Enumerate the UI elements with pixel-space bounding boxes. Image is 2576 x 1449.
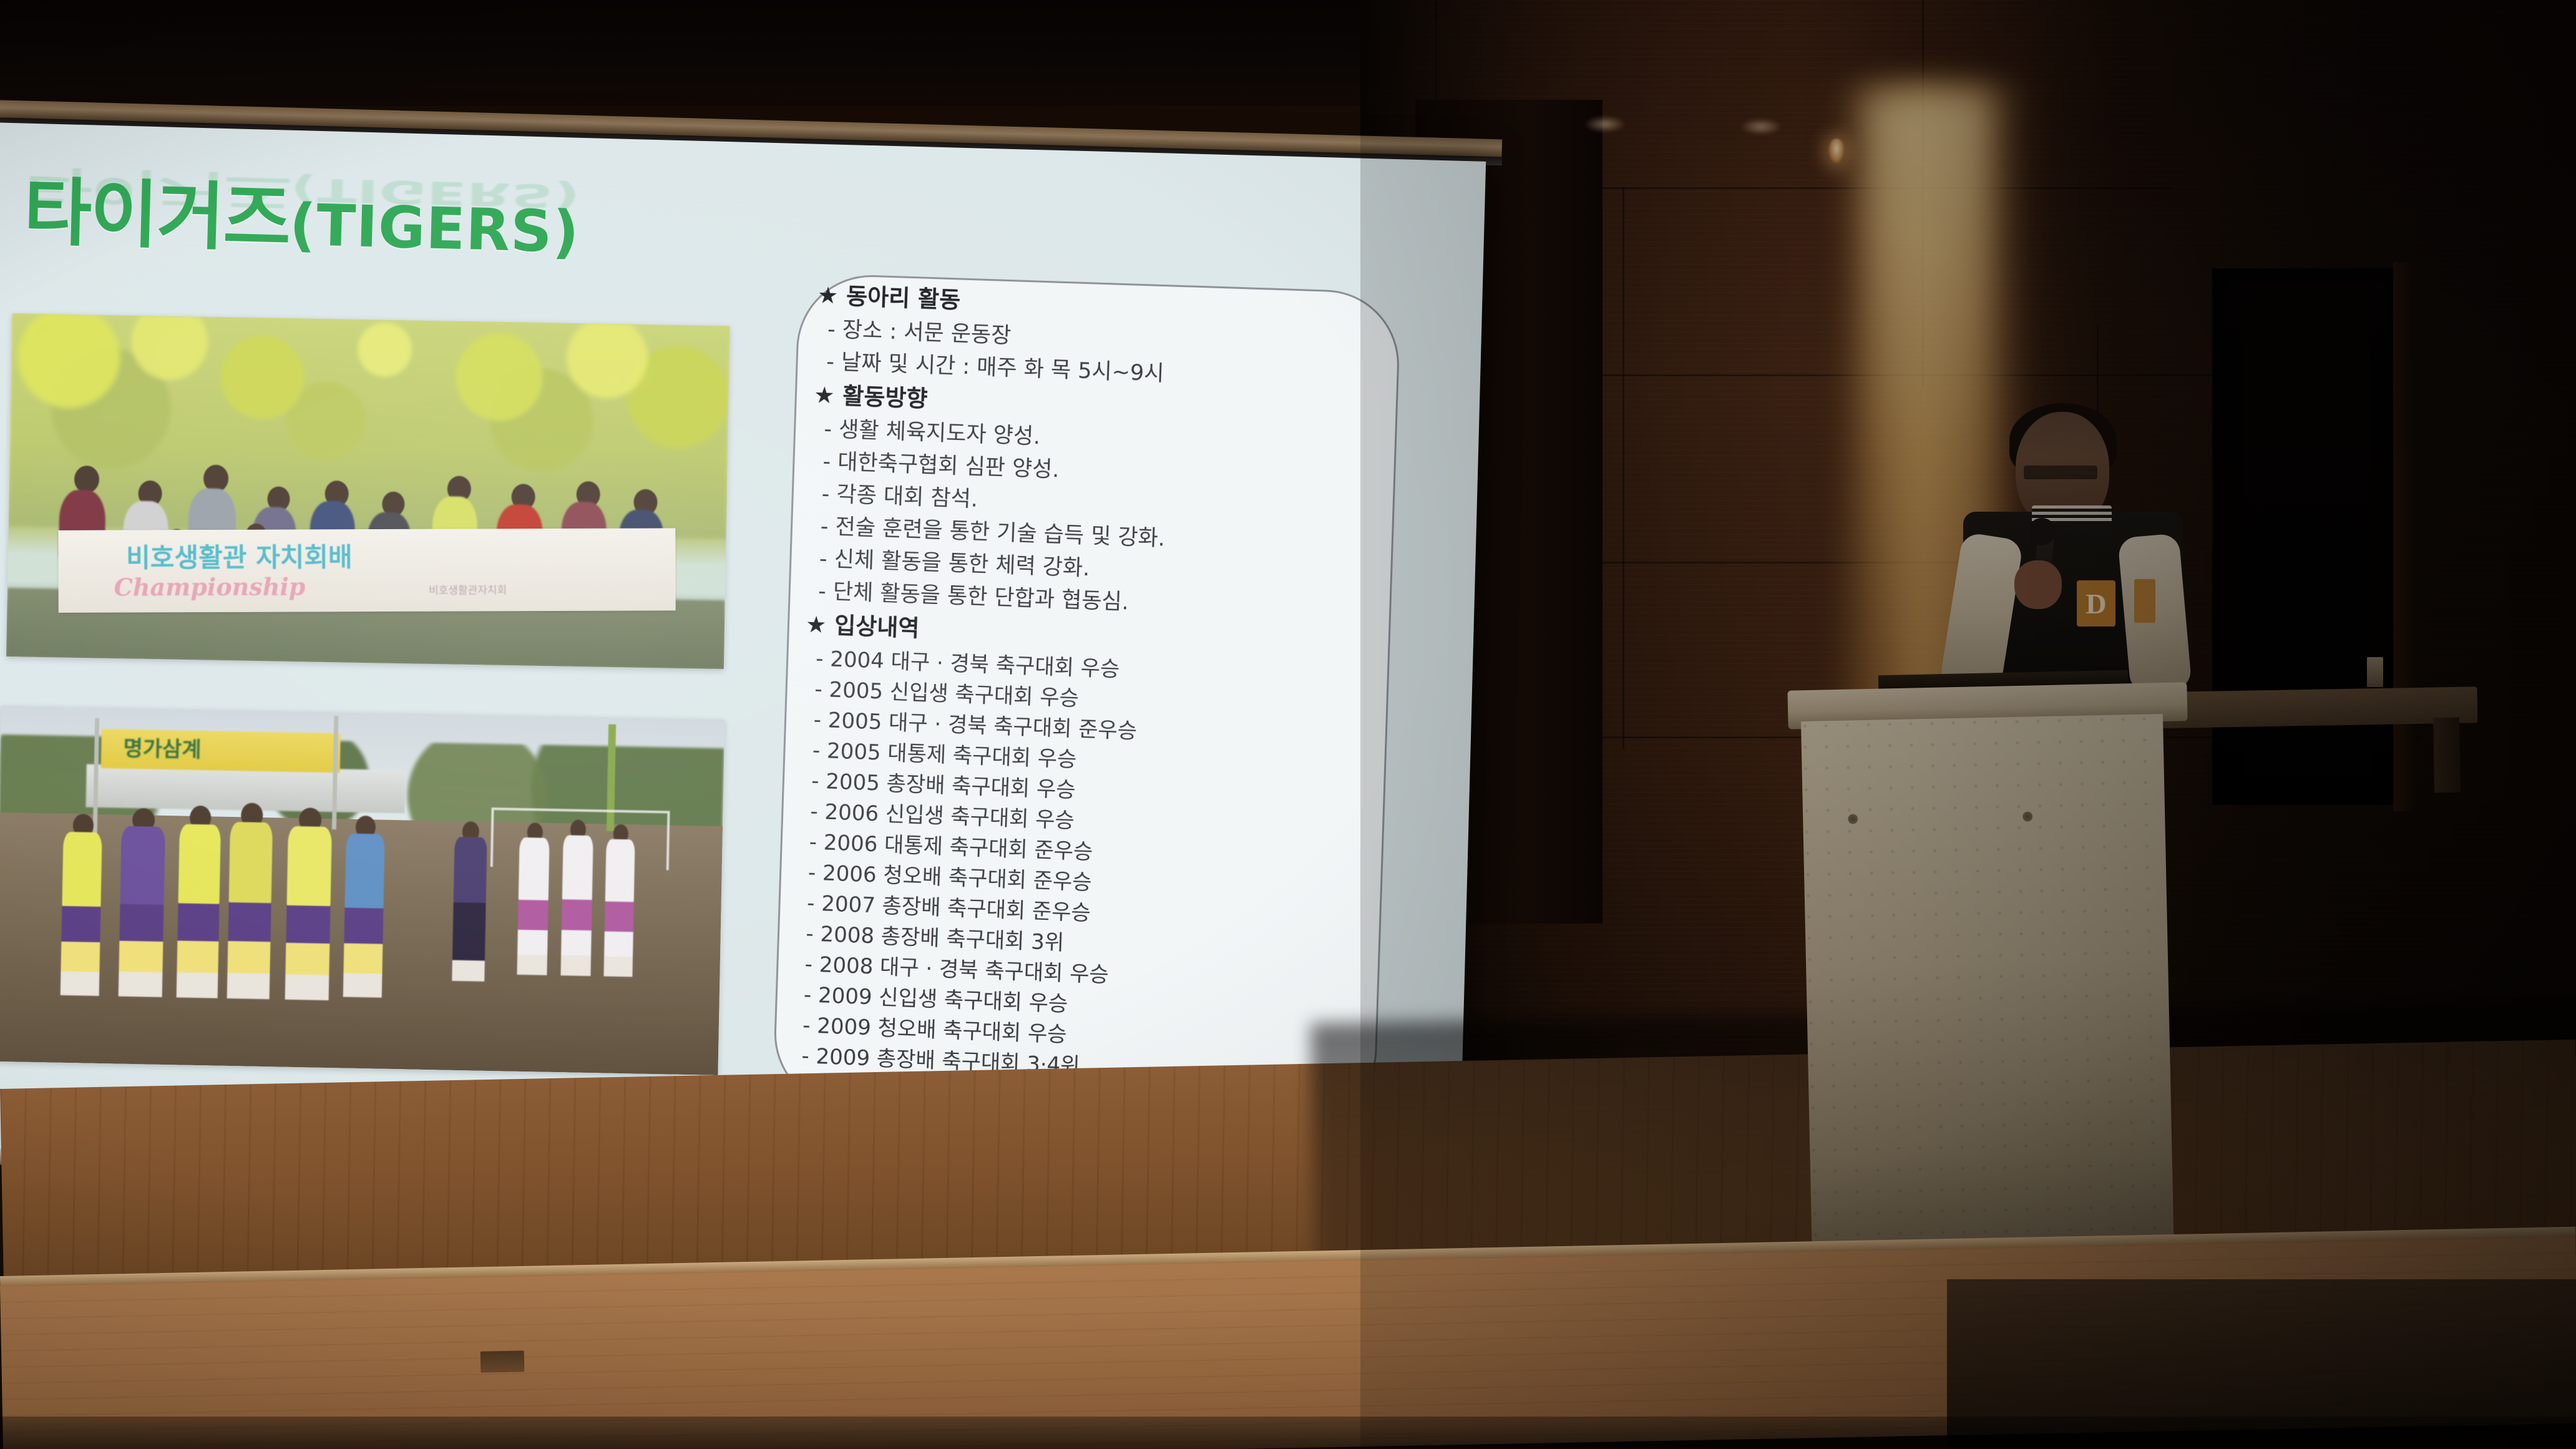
projection-screen: 타이거즈(TIGERS) 타이거즈(TIGERS) <box>0 122 1486 1197</box>
presentation-slide: 타이거즈(TIGERS) 타이거즈(TIGERS) <box>0 122 1486 1197</box>
lecture-hall-scene: 타이거즈(TIGERS) 타이거즈(TIGERS) <box>0 0 2576 1449</box>
presenter-varsity-letter-patch: D <box>2077 580 2115 627</box>
presenter: D <box>1922 412 2222 699</box>
presenter-glasses-icon <box>2024 466 2097 479</box>
photo-group-with-banner: 비호생활관 자치회배 Championship 비호생활관자치회 <box>6 313 729 669</box>
banner-line-2: Championship <box>114 572 305 601</box>
spotlight-icon <box>1828 139 1845 163</box>
photo-sign-text: 명가삼계 <box>123 731 202 763</box>
floor-foreground-shadow <box>0 1417 2576 1449</box>
banner-line-3: 비호생활관자치회 <box>428 581 506 597</box>
stage-floor-outlet <box>481 1350 525 1372</box>
ceiling-light-icon <box>1585 116 1625 132</box>
microphone-head-icon <box>2028 518 2056 545</box>
presenter-varsity-stripe-patch <box>2134 579 2155 623</box>
banner-line-1: 비호생활관 자치회배 <box>126 535 353 574</box>
presenter-hand <box>2014 560 2062 609</box>
photo-soccer-huddle: 명가삼계 <box>0 706 724 1075</box>
podium-side-table-leg <box>2433 718 2461 793</box>
ceiling-light-icon <box>1741 119 1781 135</box>
photo-banner: 비호생활관 자치회배 Championship 비호생활관자치회 <box>58 528 675 612</box>
door-jamb <box>2393 262 2417 811</box>
light-switch[interactable] <box>2367 657 2383 687</box>
